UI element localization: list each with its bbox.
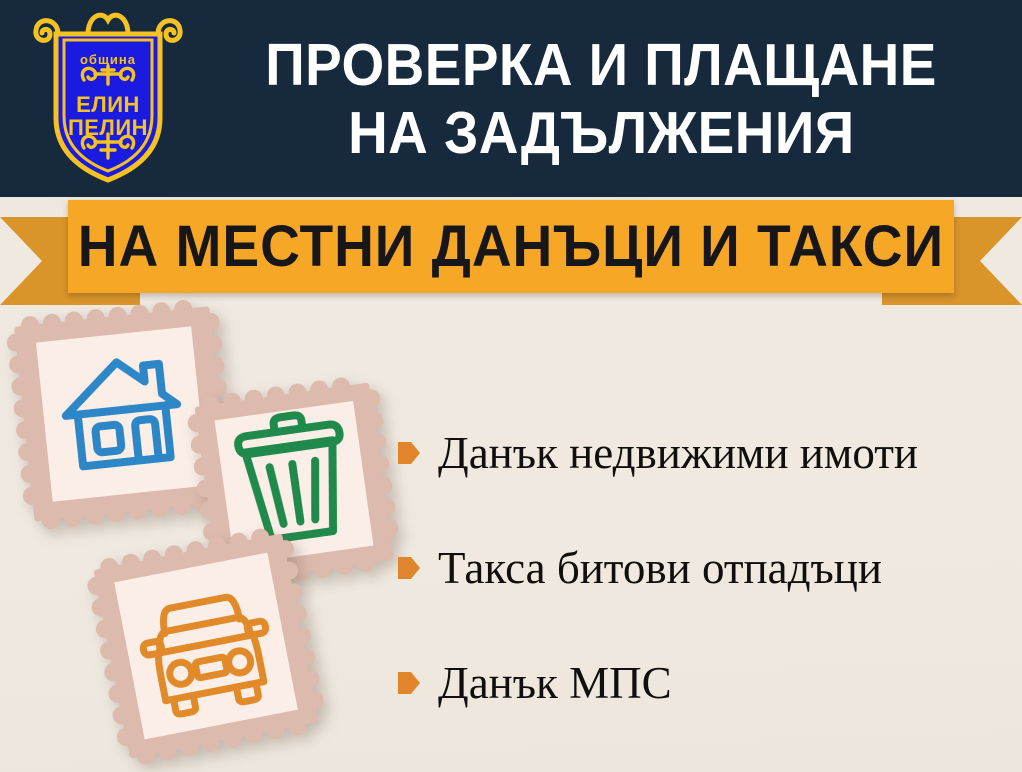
tax-type-list: Данък недвижими имоти Такса битови отпад… xyxy=(398,424,1018,769)
ribbon-label: НА МЕСТНИ ДАНЪЦИ И ТАКСИ xyxy=(78,216,944,278)
header-bar: община ЕЛИН ПЕЛИН ПРОВЕРКА И ПЛАЩАНЕ НА … xyxy=(0,0,1022,197)
stamp-card-vehicle xyxy=(82,522,331,771)
poster-title: ПРОВЕРКА И ПЛАЩАНЕ НА ЗАДЪЛЖЕНИЯ xyxy=(188,16,1014,182)
ribbon-band: НА МЕСТНИ ДАНЪЦИ И ТАКСИ xyxy=(68,200,954,293)
list-item[interactable]: Данък недвижими имоти xyxy=(398,424,1018,482)
list-item-label: Данък МПС xyxy=(438,658,672,708)
list-item-label: Данък недвижими имоти xyxy=(438,428,918,478)
title-line-2: НА ЗАДЪЛЖЕНИЯ xyxy=(348,99,855,167)
list-item-label: Такса битови отпадъци xyxy=(438,543,882,593)
arrow-bullet-icon xyxy=(398,440,420,466)
list-item[interactable]: Данък МПС xyxy=(398,654,1018,712)
title-line-1: ПРОВЕРКА И ПЛАЩАНЕ xyxy=(265,31,937,99)
poster-canvas: община ЕЛИН ПЕЛИН ПРОВЕРКА И ПЛАЩАНЕ НА … xyxy=(0,0,1022,772)
arrow-bullet-icon xyxy=(398,670,420,696)
subtitle-ribbon: НА МЕСТНИ ДАНЪЦИ И ТАКСИ xyxy=(0,196,1022,308)
list-item[interactable]: Такса битови отпадъци xyxy=(398,539,1018,597)
arrow-bullet-icon xyxy=(398,555,420,581)
municipality-crest: община ЕЛИН ПЕЛИН xyxy=(28,8,188,188)
